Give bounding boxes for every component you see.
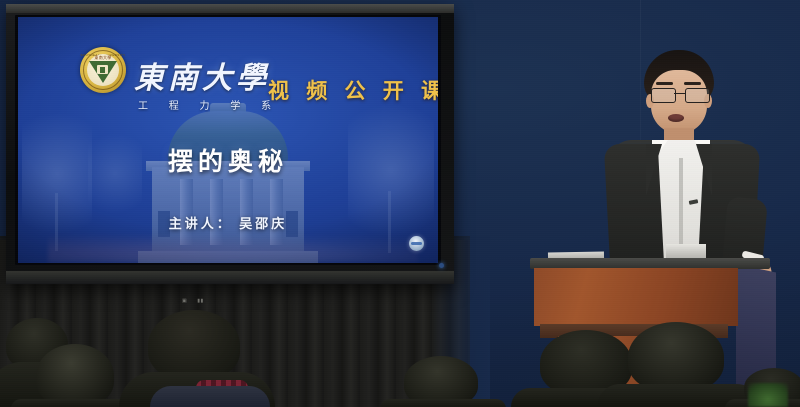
university-seal-icon: SOUTHEAST UNIVERSITY 東南大學 (80, 47, 126, 93)
university-name: 東南大學 (134, 53, 270, 97)
bezel-label-left: ▣ (182, 298, 187, 304)
display-monitor: SOUTHEAST UNIVERSITY 東南大學 東南大學 工 程 力 学 系… (6, 4, 454, 284)
presenter-mouth (668, 114, 684, 122)
audience-head-3 (148, 310, 240, 380)
audience-shoulders-4 (380, 399, 506, 407)
podium-front-panel (534, 268, 738, 326)
monitor-bottom-bezel: ▣ ▮▮ (6, 271, 454, 284)
audience-shoulders-3 (150, 386, 270, 407)
monitor-top-bezel (6, 4, 454, 13)
jacket-lapel-right (696, 144, 712, 196)
series-name: 视 频 公 开 课 (268, 75, 438, 105)
broadcaster-badge-icon (409, 236, 424, 251)
presentation-slide: SOUTHEAST UNIVERSITY 東南大學 東南大學 工 程 力 学 系… (18, 17, 438, 263)
jacket-lapel-left (646, 144, 662, 196)
bezel-label-right: ▮▮ (197, 298, 204, 304)
presenter-line: 主讲人： 吴邵庆 (18, 213, 438, 232)
glasses-icon (651, 88, 708, 101)
lecture-title: 摆的奥秘 (18, 142, 438, 178)
podium-notes (666, 244, 706, 258)
audience-head-6 (628, 322, 724, 392)
audience-green-shape (748, 383, 788, 407)
presenter-brow-left (656, 82, 673, 85)
audience-head-2 (36, 344, 114, 407)
power-led-icon (439, 263, 444, 268)
department-name: 工 程 力 学 系 (138, 97, 280, 112)
bezel-control-labels: ▣ ▮▮ (182, 298, 204, 304)
presenter-brow-right (684, 82, 701, 85)
video-frame: SOUTHEAST UNIVERSITY 東南大學 東南大學 工 程 力 学 系… (0, 0, 800, 407)
